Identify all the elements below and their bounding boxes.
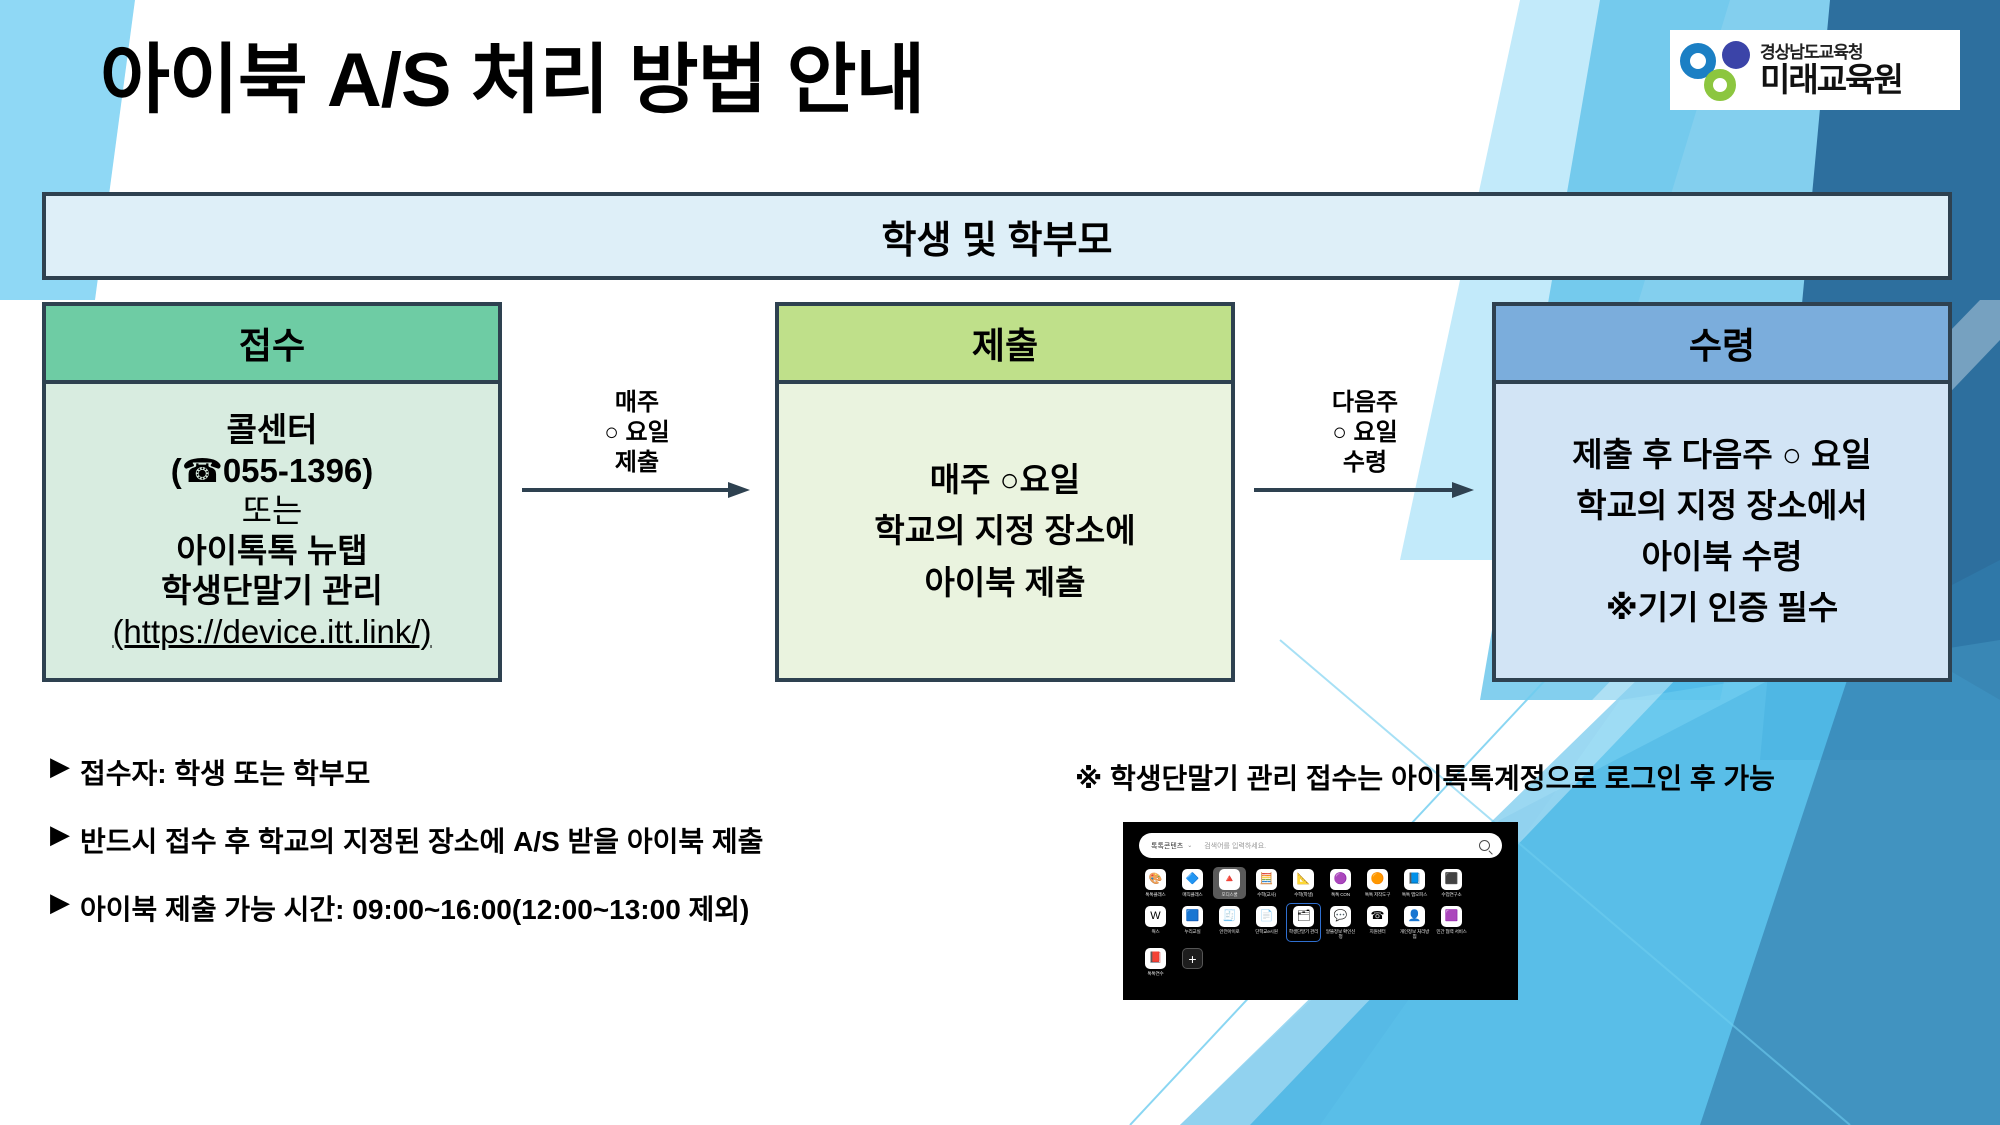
- list-item: ▶ 아이북 제출 가능 시간: 09:00~16:00(12:00~13:00 …: [50, 888, 763, 928]
- app-item[interactable]: 📕톡톡연수: [1139, 946, 1172, 978]
- app-label: 민간 협력 서비스: [1436, 929, 1466, 935]
- pickup-line-4: ※기기 인증 필수: [1606, 582, 1839, 633]
- app-icon: 💬: [1330, 906, 1351, 927]
- flow-step-submit: 제출 매주 ○요일 학교의 지정 장소에 아이북 제출: [775, 302, 1235, 682]
- list-item: ▶ 반드시 접수 후 학교의 지정된 장소에 A/S 받을 아이북 제출: [50, 820, 763, 860]
- app-item[interactable]: 🔺모디스쿨: [1213, 867, 1246, 899]
- arrow-right-icon: [522, 480, 752, 500]
- triangle-bullet-icon: ▶: [50, 752, 70, 782]
- app-label: 단학교e시원: [1255, 929, 1278, 935]
- app-label: 톡톡 앱오피스: [1402, 892, 1427, 898]
- chevron-down-icon[interactable]: ⌄: [1187, 842, 1192, 849]
- app-icon: 🔷: [1182, 869, 1203, 890]
- plus-icon: +: [1182, 948, 1203, 969]
- triangle-bullet-icon: ▶: [50, 888, 70, 918]
- app-row-3: 📕톡톡연수 +: [1139, 946, 1502, 978]
- receipt-line-4: 아이톡톡 뉴탭: [176, 531, 367, 571]
- app-icon: ☎: [1367, 906, 1388, 927]
- app-icon: W: [1145, 906, 1166, 927]
- app-icon: 🎨: [1145, 869, 1166, 890]
- app-row-2: W웍스 🟦누리교실 🧾안전아이로 📄단학교e시원 🗂학생단말기 관리 💬알뜰정보…: [1139, 904, 1502, 941]
- list-item: ▶ 접수자: 학생 또는 학부모: [50, 752, 763, 792]
- app-item[interactable]: 🧾안전아이로: [1213, 904, 1246, 941]
- app-item[interactable]: 👤개인정보 처리방침: [1398, 904, 1431, 941]
- app-item[interactable]: ⬛수업연구소: [1435, 867, 1468, 899]
- receipt-line-1: 콜센터: [226, 410, 317, 450]
- pickup-line-1: 제출 후 다음주 ○ 요일: [1572, 429, 1872, 480]
- app-icon: ⬛: [1441, 869, 1462, 890]
- app-label: 누리교실: [1184, 929, 1200, 935]
- receipt-line-3: 또는: [242, 491, 303, 531]
- app-label: 개인정보 처리방침: [1399, 929, 1430, 940]
- arrow-pickup-label-2: ○ 요일: [1245, 418, 1485, 448]
- flow-step-receipt-body: 콜센터 (☎055-1396) 또는 아이톡톡 뉴탭 학생단말기 관리 (htt…: [46, 384, 498, 678]
- logo-marks: [1678, 39, 1754, 101]
- audience-banner: 학생 및 학부모: [42, 192, 1952, 280]
- app-item-student-device-manager[interactable]: 🗂학생단말기 관리: [1287, 904, 1320, 941]
- logo-title: 미래교육원: [1760, 63, 1902, 96]
- app-item[interactable]: ☎지원센터: [1361, 904, 1394, 941]
- list-item-label: 아이북 제출 가능 시간: 09:00~16:00(12:00~13:00 제외…: [80, 888, 749, 928]
- app-icon: 🧾: [1219, 906, 1240, 927]
- app-icon: 📕: [1145, 948, 1166, 969]
- app-grid-screenshot: 톡톡콘텐츠 ⌄ 검색어를 입력하세요. 🎨톡톡클래스 🔷매직클래스 🔺모디스쿨 …: [1123, 822, 1518, 1000]
- add-app-button[interactable]: +: [1176, 946, 1209, 978]
- logo-subtitle: 경상남도교육청: [1760, 44, 1902, 61]
- app-label: 지원센터: [1369, 929, 1385, 935]
- app-icon: 🧮: [1256, 869, 1277, 890]
- search-input[interactable]: 검색어를 입력하세요.: [1204, 841, 1479, 851]
- search-category-label[interactable]: 톡톡콘텐츠: [1151, 841, 1183, 851]
- submit-line-2: 학교의 지정 장소에: [874, 505, 1135, 556]
- notes-list: ▶ 접수자: 학생 또는 학부모 ▶ 반드시 접수 후 학교의 지정된 장소에 …: [50, 752, 763, 956]
- arrow-pickup: 다음주 ○ 요일 수령: [1245, 388, 1485, 500]
- app-item[interactable]: 📘톡톡 앱오피스: [1398, 867, 1431, 899]
- app-icon: 🟪: [1441, 906, 1462, 927]
- app-icon: 📄: [1256, 906, 1277, 927]
- arrow-submit-label-1: 매주: [512, 388, 762, 418]
- arrow-pickup-label-3: 수령: [1245, 448, 1485, 478]
- arrow-submit: 매주 ○ 요일 제출: [512, 388, 762, 500]
- app-label: 톡톡 저작도구: [1365, 892, 1390, 898]
- app-label: 톡톡 CON: [1331, 892, 1350, 898]
- flow-step-receipt: 접수 콜센터 (☎055-1396) 또는 아이톡톡 뉴탭 학생단말기 관리 (…: [42, 302, 502, 682]
- list-item-label: 접수자: 학생 또는 학부모: [80, 752, 370, 792]
- arrow-pickup-label-1: 다음주: [1245, 388, 1485, 418]
- app-label: 학생단말기 관리: [1289, 929, 1318, 935]
- app-item[interactable]: 🟣톡톡 CON: [1324, 867, 1357, 899]
- flow-step-pickup-body: 제출 후 다음주 ○ 요일 학교의 지정 장소에서 아이북 수령 ※기기 인증 …: [1496, 384, 1948, 678]
- app-item[interactable]: 📄단학교e시원: [1250, 904, 1283, 941]
- app-item[interactable]: 💬알뜰정보 확인신청: [1324, 904, 1357, 941]
- app-item[interactable]: W웍스: [1139, 904, 1172, 941]
- receipt-line-2: (☎055-1396): [171, 451, 374, 491]
- submit-line-1: 매주 ○요일: [930, 454, 1081, 505]
- logo-text: 경상남도교육청 미래교육원: [1760, 44, 1902, 96]
- app-label: 톡톡클래스: [1145, 892, 1165, 898]
- app-label: 매직클래스: [1182, 892, 1202, 898]
- pickup-line-2: 학교의 지정 장소에서: [1576, 480, 1868, 531]
- app-label: 수학(교사): [1257, 892, 1276, 898]
- app-label: 수학(학생): [1294, 892, 1313, 898]
- app-icon: 🔺: [1219, 869, 1240, 890]
- app-row-1: 🎨톡톡클래스 🔷매직클래스 🔺모디스쿨 🧮수학(교사) 📐수학(학생) 🟣톡톡 …: [1139, 867, 1502, 899]
- navy-dot-icon: [1722, 41, 1750, 69]
- receipt-line-5: 학생단말기 관리: [161, 571, 383, 611]
- app-item[interactable]: 🟦누리교실: [1176, 904, 1209, 941]
- search-icon[interactable]: [1479, 840, 1490, 851]
- app-icon: 📐: [1293, 869, 1314, 890]
- arrow-submit-label-2: ○ 요일: [512, 418, 762, 448]
- app-item[interactable]: 🔷매직클래스: [1176, 867, 1209, 899]
- triangle-bullet-icon: ▶: [50, 820, 70, 850]
- app-label: 안전아이로: [1219, 929, 1239, 935]
- app-item[interactable]: 🎨톡톡클래스: [1139, 867, 1172, 899]
- app-icon: 🗂: [1293, 906, 1314, 927]
- app-icon: 🟠: [1367, 869, 1388, 890]
- receipt-device-link[interactable]: (https://device.itt.link/): [112, 612, 431, 652]
- submit-line-3: 아이북 제출: [925, 557, 1086, 608]
- app-item[interactable]: 🟠톡톡 저작도구: [1361, 867, 1394, 899]
- app-icon: 👤: [1404, 906, 1425, 927]
- app-item[interactable]: 🧮수학(교사): [1250, 867, 1283, 899]
- app-item[interactable]: 🟪민간 협력 서비스: [1435, 904, 1468, 941]
- app-label: 모디스쿨: [1221, 892, 1237, 898]
- app-icon: 🟦: [1182, 906, 1203, 927]
- app-label: 웍스: [1151, 929, 1159, 935]
- pickup-line-3: 아이북 수령: [1642, 531, 1803, 582]
- app-label: 알뜰정보 확인신청: [1325, 929, 1356, 940]
- page-title: 아이북 A/S 처리 방법 안내: [100, 18, 924, 128]
- search-bar[interactable]: 톡톡콘텐츠 ⌄ 검색어를 입력하세요.: [1139, 833, 1502, 858]
- list-item-label: 반드시 접수 후 학교의 지정된 장소에 A/S 받을 아이북 제출: [80, 820, 763, 860]
- app-icon: 📘: [1404, 869, 1425, 890]
- arrow-submit-label-3: 제출: [512, 448, 762, 478]
- flow-step-submit-body: 매주 ○요일 학교의 지정 장소에 아이북 제출: [779, 384, 1231, 678]
- flow-step-submit-header: 제출: [779, 306, 1231, 384]
- arrow-right-icon: [1254, 480, 1476, 500]
- green-ring-icon: [1704, 69, 1736, 101]
- audience-banner-label: 학생 및 학부모: [882, 209, 1113, 264]
- app-label: 수업연구소: [1441, 892, 1461, 898]
- organization-logo: 경상남도교육청 미래교육원: [1670, 30, 1960, 110]
- app-label: 톡톡연수: [1147, 971, 1163, 977]
- flow-step-pickup-header: 수령: [1496, 306, 1948, 384]
- login-note: ※ 학생단말기 관리 접수는 아이톡톡계정으로 로그인 후 가능: [1075, 757, 1775, 797]
- flow-step-pickup: 수령 제출 후 다음주 ○ 요일 학교의 지정 장소에서 아이북 수령 ※기기 …: [1492, 302, 1952, 682]
- app-icon: 🟣: [1330, 869, 1351, 890]
- flow-step-receipt-header: 접수: [46, 306, 498, 384]
- app-item[interactable]: 📐수학(학생): [1287, 867, 1320, 899]
